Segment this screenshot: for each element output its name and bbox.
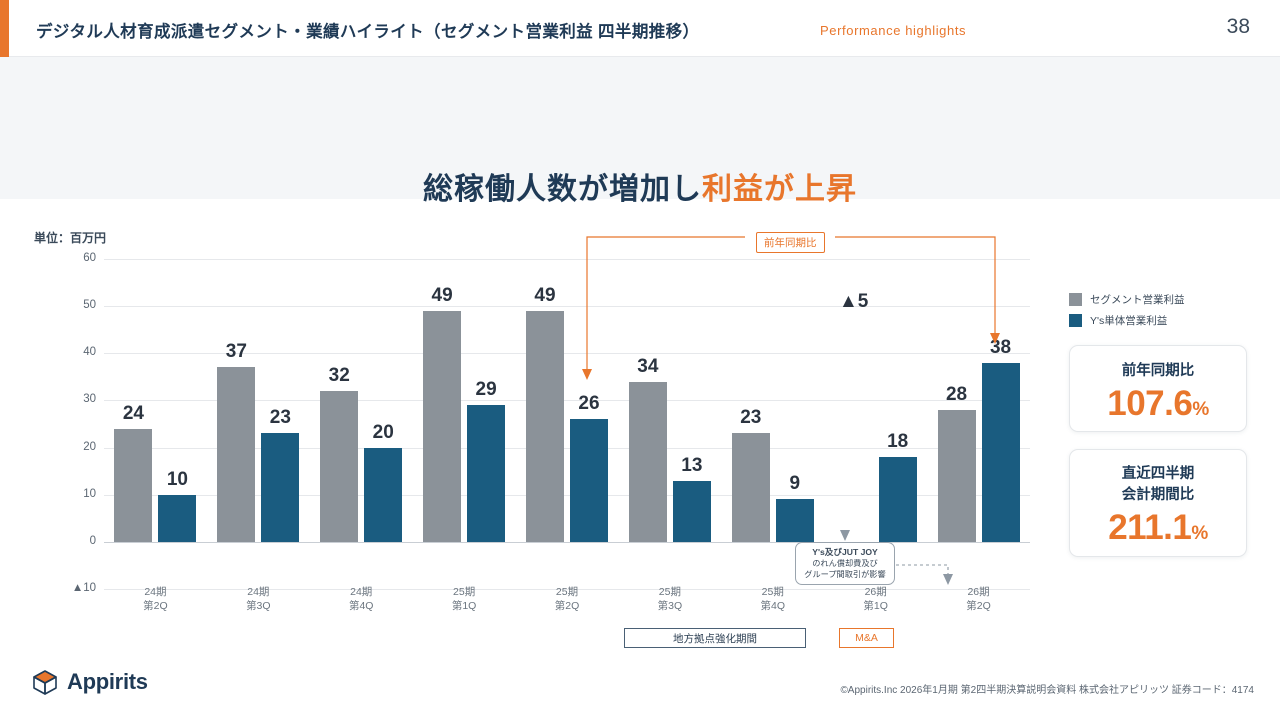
chart-bar[interactable] [364,448,402,542]
legend-item-segment: セグメント営業利益 [1069,292,1185,307]
x-axis-tick-line: 第4Q [722,599,824,613]
chart-bar-value-label: 23 [721,407,781,429]
x-axis-tick-line: 26期 [825,585,927,599]
chart-bar-value-label: 49 [515,285,575,307]
chart-bar[interactable] [526,311,564,542]
x-axis-tick-line: 第1Q [825,599,927,613]
x-axis-tick-line: 24期 [207,585,309,599]
chart-bar-group: 4929 [413,259,515,542]
logo-wordmark: Appirits [67,669,148,695]
chart-bar[interactable] [467,405,505,542]
header-accent-bar [0,0,9,57]
kpi-unit-yoy: % [1192,399,1208,420]
x-axis-tick-label: 24期第2Q [104,585,206,613]
y-axis-tick-label: 60 [50,252,96,264]
chart-bar[interactable] [879,457,917,542]
cube-logo-icon [30,667,60,697]
ma-highlight-box: M&A [839,628,894,648]
chart-bar-value-label: ▲5 [824,291,884,313]
note-line-1: Y's及びJUT JOY [799,547,891,558]
kpi-card-qoq: 直近四半期 会計期間比 211.1% [1069,449,1247,557]
x-axis-tick-label: 25期第1Q [413,585,515,613]
kpi-unit-qoq: % [1191,523,1207,544]
x-axis-tick-line: 25期 [516,585,618,599]
x-axis-tick-label: 25期第4Q [722,585,824,613]
chart-bar-value-label: 10 [147,469,207,491]
chart-bar-value-label: 38 [971,337,1031,359]
x-axis-tick-line: 第4Q [310,599,412,613]
y-axis-tick-label: 10 [50,488,96,500]
chart-legend: セグメント営業利益 Y's単体営業利益 [1069,292,1185,334]
note-callout-box: Y's及びJUT JOY のれん償却費及び グループ間取引が影響 [795,542,895,585]
title-band: 総稼働人数が増加し利益が上昇 [0,57,1280,199]
chart-bar-group: ▲518 [825,259,927,542]
chart-bar-value-label: 37 [206,341,266,363]
chart-bar-value-label: 49 [412,285,472,307]
legend-item-ys: Y's単体営業利益 [1069,313,1185,328]
chart-bar-group: 2838 [928,259,1030,542]
kpi-number-qoq: 211.1 [1108,508,1191,547]
page-number: 38 [1227,15,1250,39]
kpi-number-yoy: 107.6 [1107,384,1192,423]
legend-label-segment: セグメント営業利益 [1090,292,1185,307]
kpi-card-yoy: 前年同期比 107.6% [1069,345,1247,432]
chart-x-axis: 24期第2Q24期第3Q24期第4Q25期第1Q25期第2Q25期第3Q25期第… [104,585,1030,625]
x-axis-tick-label: 26期第2Q [928,585,1030,613]
x-axis-tick-line: 第2Q [104,599,206,613]
chart-bar-group: 3723 [207,259,309,542]
chart-bar[interactable] [776,499,814,541]
chart-bars-layer: 241037233220492949263413239▲5182838 [104,259,1030,589]
chart-bar[interactable] [982,363,1020,542]
chart-bar-value-label: 29 [456,379,516,401]
chart-bar[interactable] [261,433,299,541]
x-axis-tick-line: 26期 [928,585,1030,599]
slide-footer: Appirits ©Appirits.Inc 2026年1月期 第2四半期決算説… [0,659,1280,719]
chart-bar-value-label: 24 [103,403,163,425]
x-axis-tick-label: 25期第2Q [516,585,618,613]
chart-y-axis: 6050403020100▲10 [44,259,96,589]
legend-swatch-gray-icon [1069,293,1082,306]
chart-bar-value-label: 23 [250,407,310,429]
x-axis-tick-line: 24期 [104,585,206,599]
appirits-logo: Appirits [30,667,148,697]
x-axis-tick-line: 第2Q [928,599,1030,613]
chart-bar-value-label: 18 [868,431,928,453]
x-axis-tick-label: 25期第3Q [619,585,721,613]
x-axis-tick-line: 第1Q [413,599,515,613]
chart-bar-group: 2410 [104,259,206,542]
chart-bar-group: 3413 [619,259,721,542]
chart-bar[interactable] [158,495,196,542]
kpi-caption-qoq-line1: 直近四半期 [1070,464,1246,485]
x-axis-tick-label: 26期第1Q [825,585,927,613]
kpi-value-qoq: 211.1% [1070,506,1246,556]
chart-bar[interactable] [320,391,358,542]
x-axis-tick-label: 24期第3Q [207,585,309,613]
y-axis-tick-label: 40 [50,346,96,358]
chart-bar-value-label: 13 [662,455,722,477]
x-axis-tick-line: 第3Q [207,599,309,613]
copyright-text: ©Appirits.Inc 2026年1月期 第2四半期決算説明会資料 株式会社… [840,681,1254,696]
x-axis-tick-line: 25期 [619,585,721,599]
chart-bar[interactable] [673,481,711,542]
x-axis-tick-line: 第2Q [516,599,618,613]
chart-bar-value-label: 9 [765,473,825,495]
legend-swatch-blue-icon [1069,314,1082,327]
chart-bar[interactable] [217,367,255,541]
y-axis-tick-label: 50 [50,299,96,311]
y-axis-tick-label: 20 [50,441,96,453]
page-title: デジタル人材育成派遣セグメント・業績ハイライト（セグメント営業利益 四半期推移） [36,18,699,42]
chart-unit-label: 単位：百万円 [34,229,106,246]
x-axis-tick-label: 24期第4Q [310,585,412,613]
y-axis-tick-label: 0 [50,535,96,547]
period-highlight-box: 地方拠点強化期間 [624,628,806,648]
chart-bar-value-label: 34 [618,356,678,378]
chart-bar-group: 4926 [516,259,618,542]
x-axis-tick-line: 25期 [722,585,824,599]
chart-bar[interactable] [423,311,461,542]
header-subtitle: Performance highlights [820,23,966,38]
chart-bar-group: 239 [722,259,824,542]
chart-bar[interactable] [570,419,608,542]
x-axis-tick-line: 第3Q [619,599,721,613]
x-axis-tick-line: 25期 [413,585,515,599]
x-axis-tick-line: 24期 [310,585,412,599]
chart-bar-value-label: 26 [559,393,619,415]
chart-bar-value-label: 32 [309,365,369,387]
legend-label-ys: Y's単体営業利益 [1090,313,1167,328]
note-line-2: のれん償却費及び [799,558,891,569]
kpi-value-yoy: 107.6% [1070,382,1246,432]
kpi-caption-yoy: 前年同期比 [1070,361,1246,382]
chart-bar-value-label: 28 [927,384,987,406]
slide-header: デジタル人材育成派遣セグメント・業績ハイライト（セグメント営業利益 四半期推移）… [0,0,1280,57]
y-axis-tick-label: ▲10 [50,582,96,594]
note-line-3: グループ間取引が影響 [799,569,891,580]
y-axis-tick-label: 30 [50,393,96,405]
chart-bar-group: 3220 [310,259,412,542]
chart-bar[interactable] [938,410,976,542]
chart-bar-value-label: 20 [353,422,413,444]
slide-root: デジタル人材育成派遣セグメント・業績ハイライト（セグメント営業利益 四半期推移）… [0,0,1280,719]
kpi-caption-qoq-line2: 会計期間比 [1070,485,1246,506]
yoy-bracket-label: 前年同期比 [756,232,825,253]
